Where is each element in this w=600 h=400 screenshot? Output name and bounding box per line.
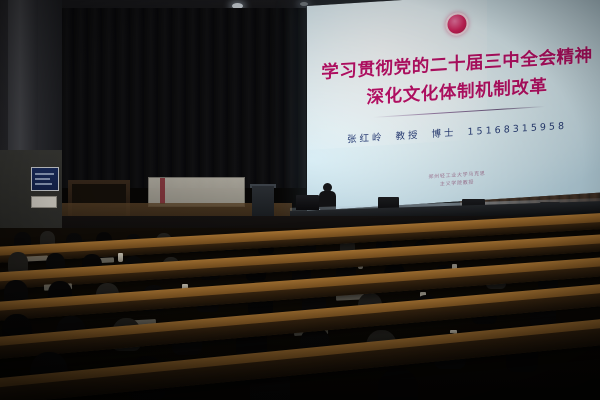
paper-cup <box>118 253 123 262</box>
stage-curtain <box>46 8 306 188</box>
projection-screen: 学习贯彻党的二十届三中全会精神 深化文化体制机制改革 张红岭教授博士151683… <box>307 0 600 211</box>
speaker-name: 张红岭 <box>347 132 385 145</box>
lecture-hall-photo: 学习贯彻党的二十届三中全会精神 深化文化体制机制改革 张红岭教授博士151683… <box>0 0 600 400</box>
slide-byline: 张红岭教授博士15168315958 <box>307 115 600 148</box>
party-emblem-icon <box>446 12 469 36</box>
slide-footer: 郑州轻工业大学马克思 主义学院教授 <box>307 163 600 197</box>
sign-text-line <box>35 173 54 175</box>
slide-content: 学习贯彻党的二十届三中全会精神 深化文化体制机制改革 张红岭教授博士151683… <box>307 0 600 211</box>
speaker-degree: 博士 <box>432 128 457 141</box>
speaker-phone: 15168315958 <box>468 121 568 138</box>
red-wall-banner <box>160 178 165 204</box>
seated-presenter <box>319 183 336 209</box>
slide-divider-rule <box>373 106 545 118</box>
audience-member <box>378 368 418 400</box>
speaker-rank: 教授 <box>395 130 420 143</box>
sign-text-line <box>35 183 52 185</box>
wall-placard <box>31 196 57 208</box>
sign-text-line <box>35 178 50 180</box>
laptop <box>296 195 319 210</box>
blue-directional-sign <box>31 167 59 191</box>
